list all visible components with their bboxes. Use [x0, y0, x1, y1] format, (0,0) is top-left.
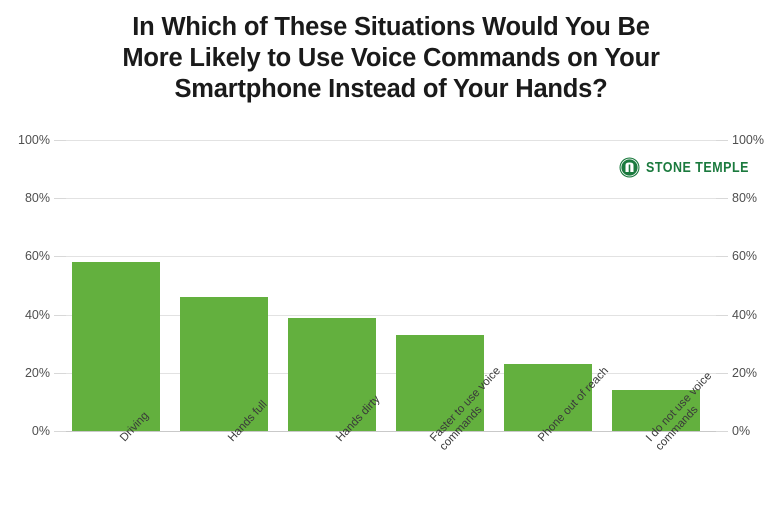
y-axis-label-right-0: 0%	[732, 425, 750, 438]
tick-left-0	[54, 431, 66, 432]
y-axis-label-left-80: 80%	[25, 192, 50, 205]
chart-title-line-2: More Likely to Use Voice Commands on You…	[40, 43, 742, 74]
y-axis-label-right-40: 40%	[732, 309, 757, 322]
stone-temple-logo-text: STONE TEMPLE	[646, 160, 749, 176]
y-axis-label-left-40: 40%	[25, 309, 50, 322]
y-axis-label-left-0: 0%	[32, 425, 50, 438]
plot-area: 100% 100% 80% 80% 60% 60% 40% 40% 20% 20…	[66, 140, 716, 431]
y-axis-label-left-100: 100%	[18, 134, 50, 147]
bar-slot-driving	[72, 140, 160, 431]
y-axis-label-right-60: 60%	[732, 250, 757, 263]
chart-container: In Which of These Situations Would You B…	[0, 0, 782, 530]
tick-left-40	[54, 315, 66, 316]
tick-left-20	[54, 373, 66, 374]
tick-right-80	[716, 198, 728, 199]
chart-title: In Which of These Situations Would You B…	[40, 12, 742, 105]
tick-left-80	[54, 198, 66, 199]
y-axis-label-left-60: 60%	[25, 250, 50, 263]
chart-title-line-3: Smartphone Instead of Your Hands?	[40, 74, 742, 105]
y-axis-label-right-80: 80%	[732, 192, 757, 205]
bar-slot-phone-out-of-reach	[504, 140, 592, 431]
stone-temple-logo: STONE TEMPLE	[619, 157, 766, 178]
y-axis-label-left-20: 20%	[25, 367, 50, 380]
stone-temple-logo-icon	[619, 157, 640, 178]
bar-slot-hands-full	[180, 140, 268, 431]
tick-right-100	[716, 140, 728, 141]
chart-title-line-1: In Which of These Situations Would You B…	[40, 12, 742, 43]
bar-slot-i-do-not-use-voice-commands	[612, 140, 700, 431]
bar-series	[66, 140, 716, 431]
tick-right-60	[716, 256, 728, 257]
bar-slot-faster-to-use-voice-commands	[396, 140, 484, 431]
tick-left-60	[54, 256, 66, 257]
gridline-0	[66, 431, 716, 432]
tick-left-100	[54, 140, 66, 141]
y-axis-label-right-100: 100%	[732, 134, 764, 147]
tick-right-40	[716, 315, 728, 316]
bar-slot-hands-dirty	[288, 140, 376, 431]
tick-right-0	[716, 431, 728, 432]
bar-driving[interactable]	[72, 262, 160, 431]
